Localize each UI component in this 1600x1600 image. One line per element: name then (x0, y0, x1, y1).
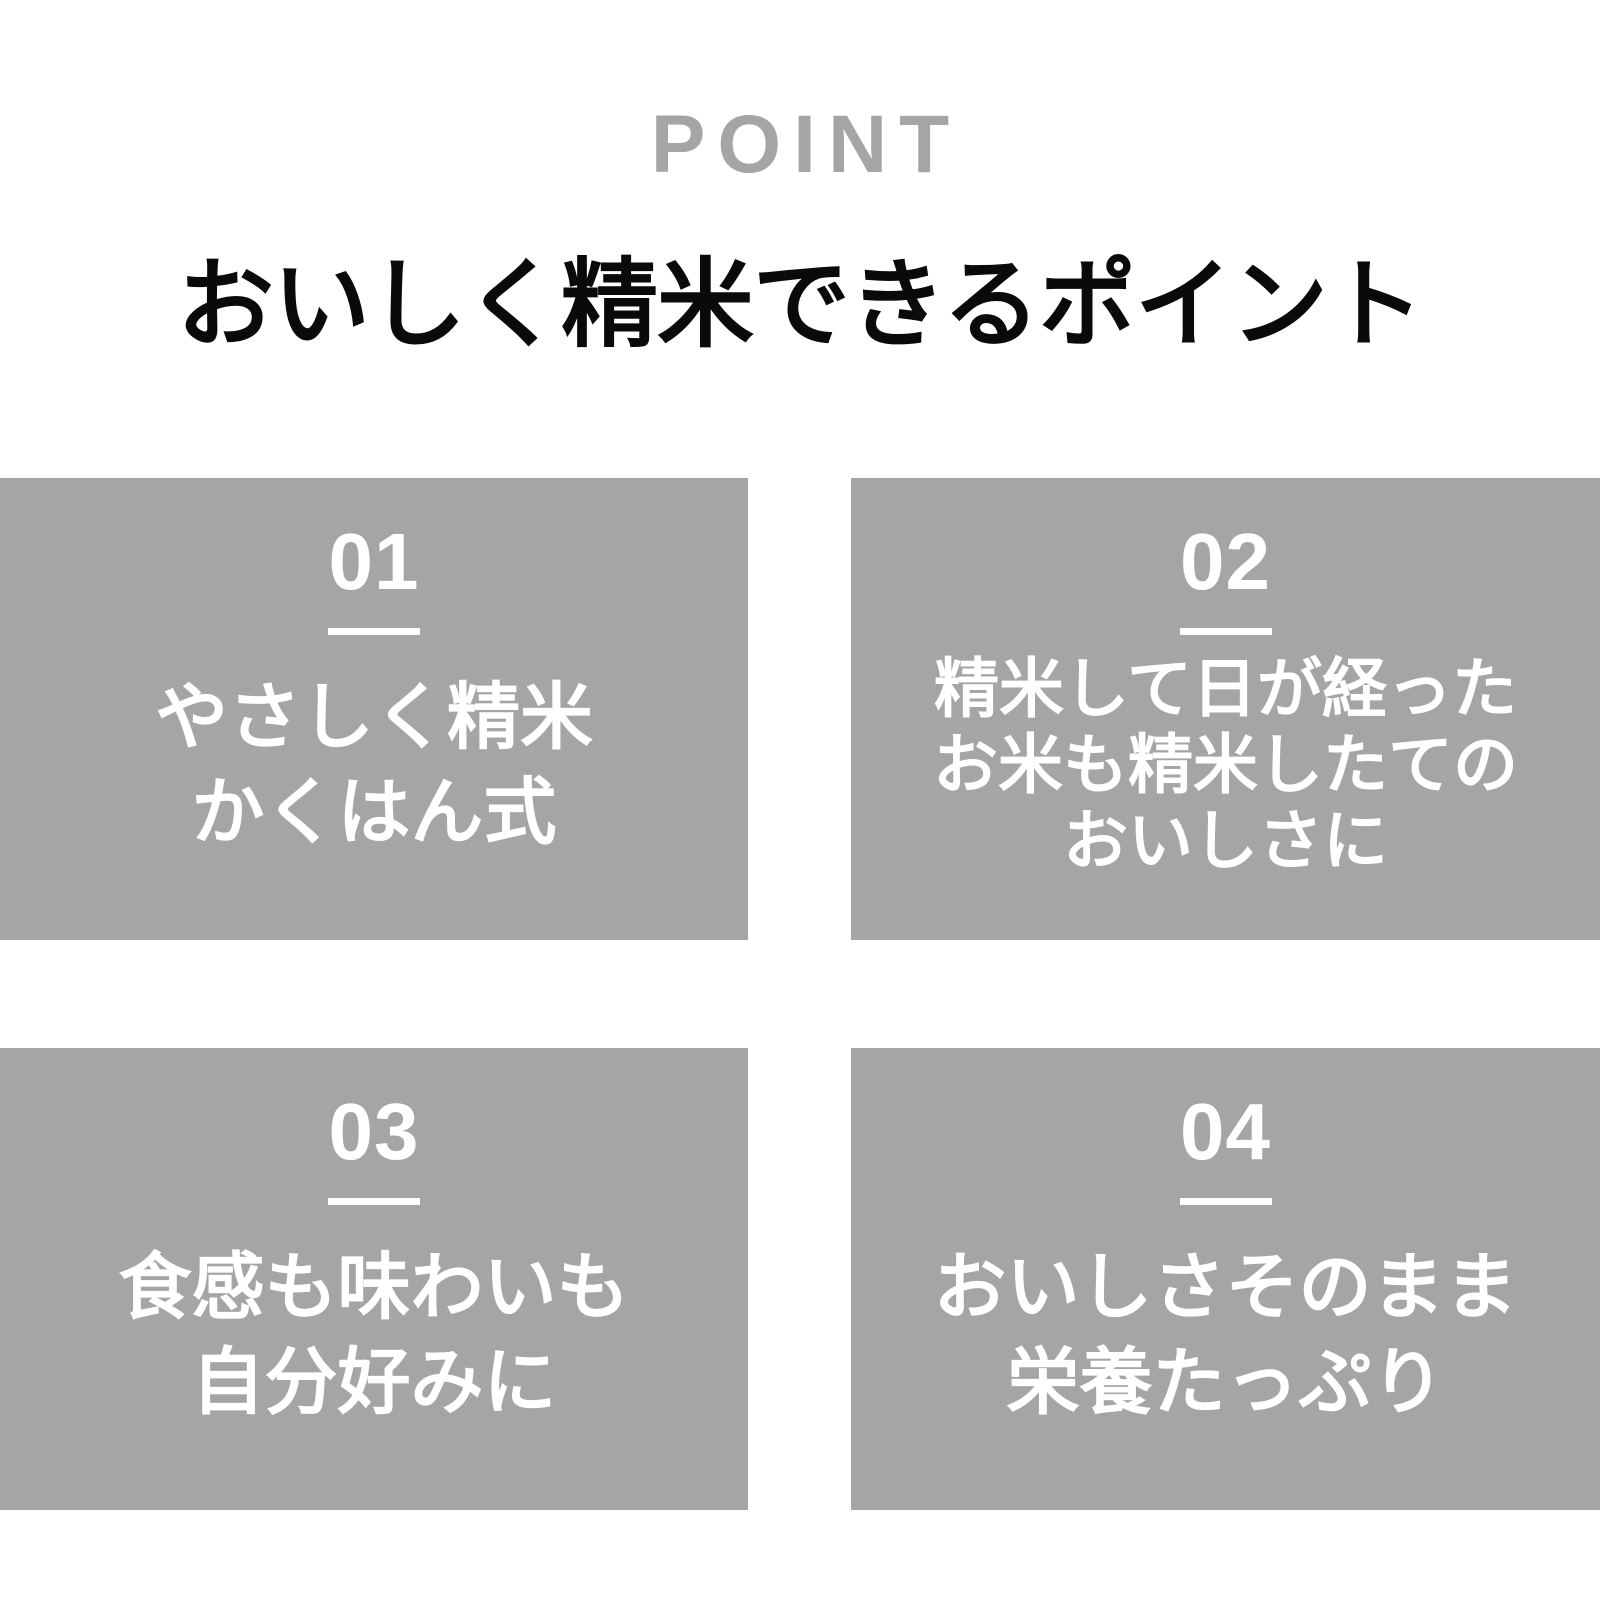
point-card-02: 02 精米して日が経った お米も精米したての おいしさに (851, 478, 1600, 940)
point-card-03-line-2: 自分好みに (0, 1336, 748, 1431)
point-card-01-inner: 01 やさしく精米 かくはん式 (0, 478, 748, 861)
point-card-02-line-1: 精米して日が経った (851, 651, 1600, 727)
point-card-02-rule (1180, 628, 1272, 635)
point-card-01-line-2: かくはん式 (0, 766, 748, 861)
point-card-02-number: 02 (851, 478, 1600, 602)
point-card-02-line-3: おいしさに (851, 803, 1600, 879)
point-card-01: 01 やさしく精米 かくはん式 (0, 478, 748, 940)
point-card-02-text: 精米して日が経った お米も精米したての おいしさに (851, 651, 1600, 879)
point-card-03-number: 03 (0, 1048, 748, 1172)
point-card-01-number: 01 (0, 478, 748, 602)
point-card-04-line-2: 栄養たっぷり (851, 1336, 1600, 1431)
section-eyebrow: POINT (0, 0, 1600, 186)
page-title: おいしく精米できるポイント (0, 186, 1600, 359)
point-card-04-text: おいしさそのまま 栄養たっぷり (851, 1241, 1600, 1431)
point-card-01-rule (328, 628, 420, 635)
point-card-03-text: 食感も味わいも 自分好みに (0, 1241, 748, 1431)
point-card-01-text: やさしく精米 かくはん式 (0, 671, 748, 861)
point-card-02-inner: 02 精米して日が経った お米も精米したての おいしさに (851, 478, 1600, 879)
point-card-03-rule (328, 1198, 420, 1205)
point-card-03-inner: 03 食感も味わいも 自分好みに (0, 1048, 748, 1431)
section-header: POINT おいしく精米できるポイント (0, 0, 1600, 359)
point-section: POINT おいしく精米できるポイント 01 やさしく精米 かくはん式 02 精… (0, 0, 1600, 1600)
point-card-02-line-2: お米も精米したての (851, 727, 1600, 803)
point-card-04: 04 おいしさそのまま 栄養たっぷり (851, 1048, 1600, 1510)
point-card-03: 03 食感も味わいも 自分好みに (0, 1048, 748, 1510)
point-card-01-line-1: やさしく精米 (0, 671, 748, 766)
point-card-03-line-1: 食感も味わいも (0, 1241, 748, 1336)
point-card-04-rule (1180, 1198, 1272, 1205)
point-card-04-line-1: おいしさそのまま (851, 1241, 1600, 1336)
point-card-04-inner: 04 おいしさそのまま 栄養たっぷり (851, 1048, 1600, 1431)
point-card-04-number: 04 (851, 1048, 1600, 1172)
